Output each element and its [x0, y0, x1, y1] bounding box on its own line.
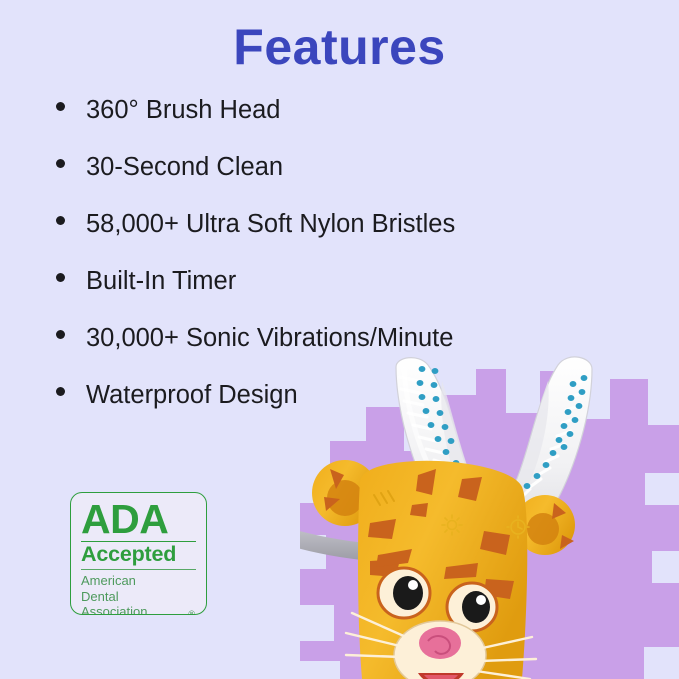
- bullet-icon: [56, 159, 65, 168]
- product-image: [300, 355, 679, 679]
- product-feature-card: Features 360° Brush Head 30-Second Clean…: [0, 0, 679, 679]
- ada-accepted-seal: ADA Accepted American Dental Association…: [70, 492, 207, 615]
- bullet-icon: [56, 330, 65, 339]
- ada-org-line-2: Dental: [81, 589, 196, 604]
- feature-label: 30-Second Clean: [86, 155, 283, 181]
- list-item: 360° Brush Head: [56, 98, 656, 155]
- feature-label: 30,000+ Sonic Vibrations/Minute: [86, 326, 453, 352]
- list-item: 30-Second Clean: [56, 155, 656, 212]
- feature-label: 58,000+ Ultra Soft Nylon Bristles: [86, 212, 455, 238]
- list-item: 58,000+ Ultra Soft Nylon Bristles: [56, 212, 656, 269]
- ada-divider-bottom: [81, 569, 196, 570]
- registered-trademark-icon: ®: [188, 609, 195, 615]
- feature-label: 360° Brush Head: [86, 98, 281, 124]
- page-title: Features: [0, 20, 679, 75]
- bullet-icon: [56, 216, 65, 225]
- ada-accepted-label: Accepted: [81, 543, 196, 566]
- feature-label: Built-In Timer: [86, 269, 236, 295]
- feature-label: Waterproof Design: [86, 383, 298, 409]
- ada-organization: American Dental Association ®: [81, 573, 196, 615]
- ada-org-line-3: Association: [81, 604, 196, 615]
- bullet-icon: [56, 387, 65, 396]
- bullet-icon: [56, 102, 65, 111]
- ada-acronym: ADA: [81, 500, 196, 539]
- list-item: Built-In Timer: [56, 269, 656, 326]
- tiger-left-eye: [378, 568, 430, 618]
- ada-org-line-1: American: [81, 573, 196, 588]
- bullet-icon: [56, 273, 65, 282]
